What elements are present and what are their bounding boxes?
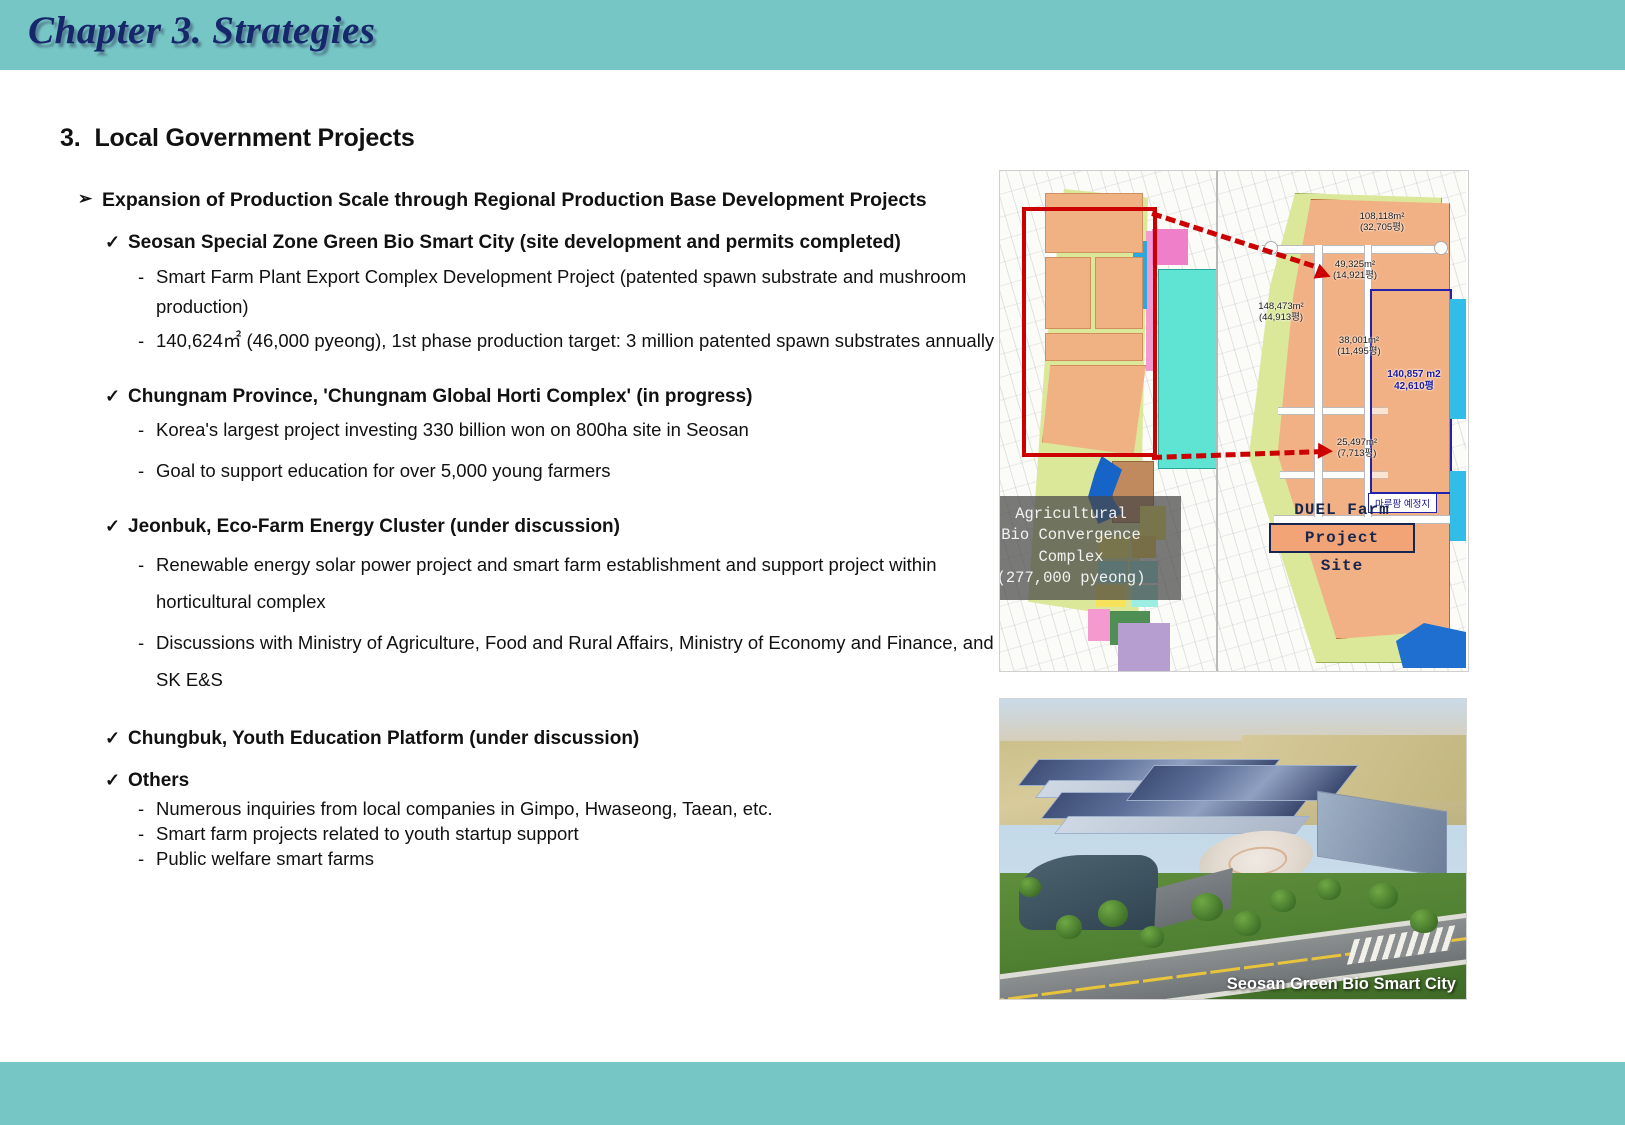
detail-road-v1 bbox=[1314, 245, 1323, 517]
bullet-item-0-heading-text: Seosan Special Zone Green Bio Smart City… bbox=[128, 229, 1008, 258]
bullet-item-2-sub-1-text: Discussions with Ministry of Agriculture… bbox=[156, 624, 1008, 698]
area-label-3: 38,001m²(11,495평) bbox=[1320, 335, 1398, 357]
bullet-item-0-sub-0: - Smart Farm Plant Export Complex Develo… bbox=[138, 262, 1008, 322]
site-rendering-photo: Seosan Green Bio Smart City bbox=[999, 698, 1467, 1000]
map-teal-zone bbox=[1158, 269, 1218, 469]
photo-pavilion-left bbox=[1019, 855, 1159, 930]
bullet-item-4-sub-2: - Public welfare smart farms bbox=[138, 847, 1008, 871]
arrow-bullet-icon: ➢ bbox=[78, 185, 102, 213]
zoning-map-panel: Agricultural Bio Convergence Complex (27… bbox=[999, 170, 1469, 672]
bullet-item-4-sub-2-text: Public welfare smart farms bbox=[156, 847, 1008, 871]
bullet-item-4-sub-0-text: Numerous inquiries from local companies … bbox=[156, 797, 1008, 821]
slide-canvas: Chapter 3. Strategies 3.Local Government… bbox=[0, 0, 1625, 1125]
bullet-item-4-sub-0: - Numerous inquiries from local companie… bbox=[138, 797, 1008, 821]
dash-bullet-icon: - bbox=[138, 326, 156, 356]
section-number: 3. bbox=[60, 124, 80, 152]
photo-tree bbox=[1233, 911, 1261, 936]
bullet-item-2-sub-0: - Renewable energy solar power project a… bbox=[138, 546, 1008, 620]
chapter-title: Chapter 3. Strategies bbox=[28, 8, 375, 53]
dash-bullet-icon: - bbox=[138, 546, 156, 583]
bullet-level1: ➢ Expansion of Production Scale through … bbox=[78, 185, 1008, 215]
bullet-item-4-sub-1-text: Smart farm projects related to youth sta… bbox=[156, 822, 1008, 846]
check-bullet-icon: ✓ bbox=[105, 767, 128, 794]
highlight-rectangle bbox=[1022, 207, 1157, 457]
dash-bullet-icon: - bbox=[138, 822, 156, 846]
check-bullet-icon: ✓ bbox=[105, 229, 128, 256]
check-bullet-icon: ✓ bbox=[105, 383, 128, 410]
bullet-item-3-heading-text: Chungbuk, Youth Education Platform (unde… bbox=[128, 725, 1008, 754]
section-title-text: Local Government Projects bbox=[94, 124, 414, 152]
photo-tree bbox=[1140, 926, 1164, 948]
dash-bullet-icon: - bbox=[138, 797, 156, 821]
check-bullet-icon: ✓ bbox=[105, 513, 128, 540]
dash-bullet-icon: - bbox=[138, 262, 156, 292]
photo-tree bbox=[1368, 883, 1398, 909]
bullet-item-1-sub-1-text: Goal to support education for over 5,000… bbox=[156, 456, 1008, 486]
check-bullet-icon: ✓ bbox=[105, 725, 128, 752]
detail-callout: DUEL Farm Project Site bbox=[1218, 501, 1466, 575]
content-bullets: ➢ Expansion of Production Scale through … bbox=[78, 185, 1008, 871]
detail-culdesac-right bbox=[1434, 241, 1448, 255]
bullet-item-2-heading: ✓ Jeonbuk, Eco-Farm Energy Cluster (unde… bbox=[105, 513, 1008, 542]
bullet-item-2-heading-text: Jeonbuk, Eco-Farm Energy Cluster (under … bbox=[128, 513, 1008, 542]
photo-tree bbox=[1191, 893, 1223, 921]
bullet-item-1-heading-text: Chungnam Province, 'Chungnam Global Hort… bbox=[128, 383, 1008, 412]
bullet-item-1-heading: ✓ Chungnam Province, 'Chungnam Global Ho… bbox=[105, 383, 1008, 412]
map-pink-block bbox=[1152, 229, 1188, 265]
photo-tree bbox=[1410, 909, 1438, 933]
map-pink-lot bbox=[1088, 609, 1110, 641]
bullet-item-0-sub-0-text: Smart Farm Plant Export Complex Developm… bbox=[156, 262, 1008, 322]
photo-tree bbox=[1019, 877, 1041, 897]
page-title: 3.Local Government Projects bbox=[60, 124, 415, 153]
area-label-0: 108,118m²(32,705평) bbox=[1334, 211, 1430, 233]
area-label-2: 148,473m²(44,913평) bbox=[1238, 301, 1324, 323]
bullet-item-0-sub-1: - 140,624㎡ (46,000 pyeong), 1st phase pr… bbox=[138, 326, 1008, 356]
detail-road-h1 bbox=[1262, 245, 1448, 254]
bullet-item-2-sub-1: - Discussions with Ministry of Agricultu… bbox=[138, 624, 1008, 698]
footer-band bbox=[0, 1062, 1625, 1125]
bullet-item-1-sub-0: - Korea's largest project investing 330 … bbox=[138, 415, 1008, 445]
bullet-item-1-sub-0-text: Korea's largest project investing 330 bi… bbox=[156, 415, 1008, 445]
bullet-item-2-sub-0-text: Renewable energy solar power project and… bbox=[156, 546, 1008, 620]
dash-bullet-icon: - bbox=[138, 415, 156, 445]
bullet-item-0-sub-1-text: 140,624㎡ (46,000 pyeong), 1st phase prod… bbox=[156, 326, 1008, 356]
callout-line-2: Project bbox=[1269, 523, 1415, 553]
overview-map: Agricultural Bio Convergence Complex (27… bbox=[1000, 171, 1218, 671]
bullet-item-4-heading: ✓ Others bbox=[105, 767, 1008, 796]
photo-tree bbox=[1317, 878, 1341, 900]
bullet-item-3-heading: ✓ Chungbuk, Youth Education Platform (un… bbox=[105, 725, 1008, 754]
dash-bullet-icon: - bbox=[138, 847, 156, 871]
callout-line-1: DUEL Farm bbox=[1218, 501, 1466, 519]
bullet-item-0-heading: ✓ Seosan Special Zone Green Bio Smart Ci… bbox=[105, 229, 1008, 258]
photo-caption: Seosan Green Bio Smart City bbox=[1227, 975, 1456, 994]
blue-parcel-label: 140,857 m242,610평 bbox=[1378, 369, 1450, 393]
photo-tree bbox=[1270, 889, 1296, 912]
callout-line-3: Site bbox=[1218, 557, 1466, 575]
photo-tree bbox=[1056, 915, 1082, 939]
bullet-item-4-heading-text: Others bbox=[128, 767, 1008, 796]
map-purple-lot bbox=[1118, 623, 1170, 671]
bullet-item-4-sub-1: - Smart farm projects related to youth s… bbox=[138, 822, 1008, 846]
detail-cyan-water-1 bbox=[1450, 299, 1466, 419]
bullet-item-1-sub-1: - Goal to support education for over 5,0… bbox=[138, 456, 1008, 486]
dash-bullet-icon: - bbox=[138, 624, 156, 661]
overview-overlay-label: Agricultural Bio Convergence Complex (27… bbox=[1000, 496, 1181, 600]
bullet-level1-text: Expansion of Production Scale through Re… bbox=[102, 185, 1008, 215]
photo-tree bbox=[1098, 900, 1128, 927]
connector-arrow-bottom bbox=[1318, 443, 1334, 460]
dash-bullet-icon: - bbox=[138, 456, 156, 486]
